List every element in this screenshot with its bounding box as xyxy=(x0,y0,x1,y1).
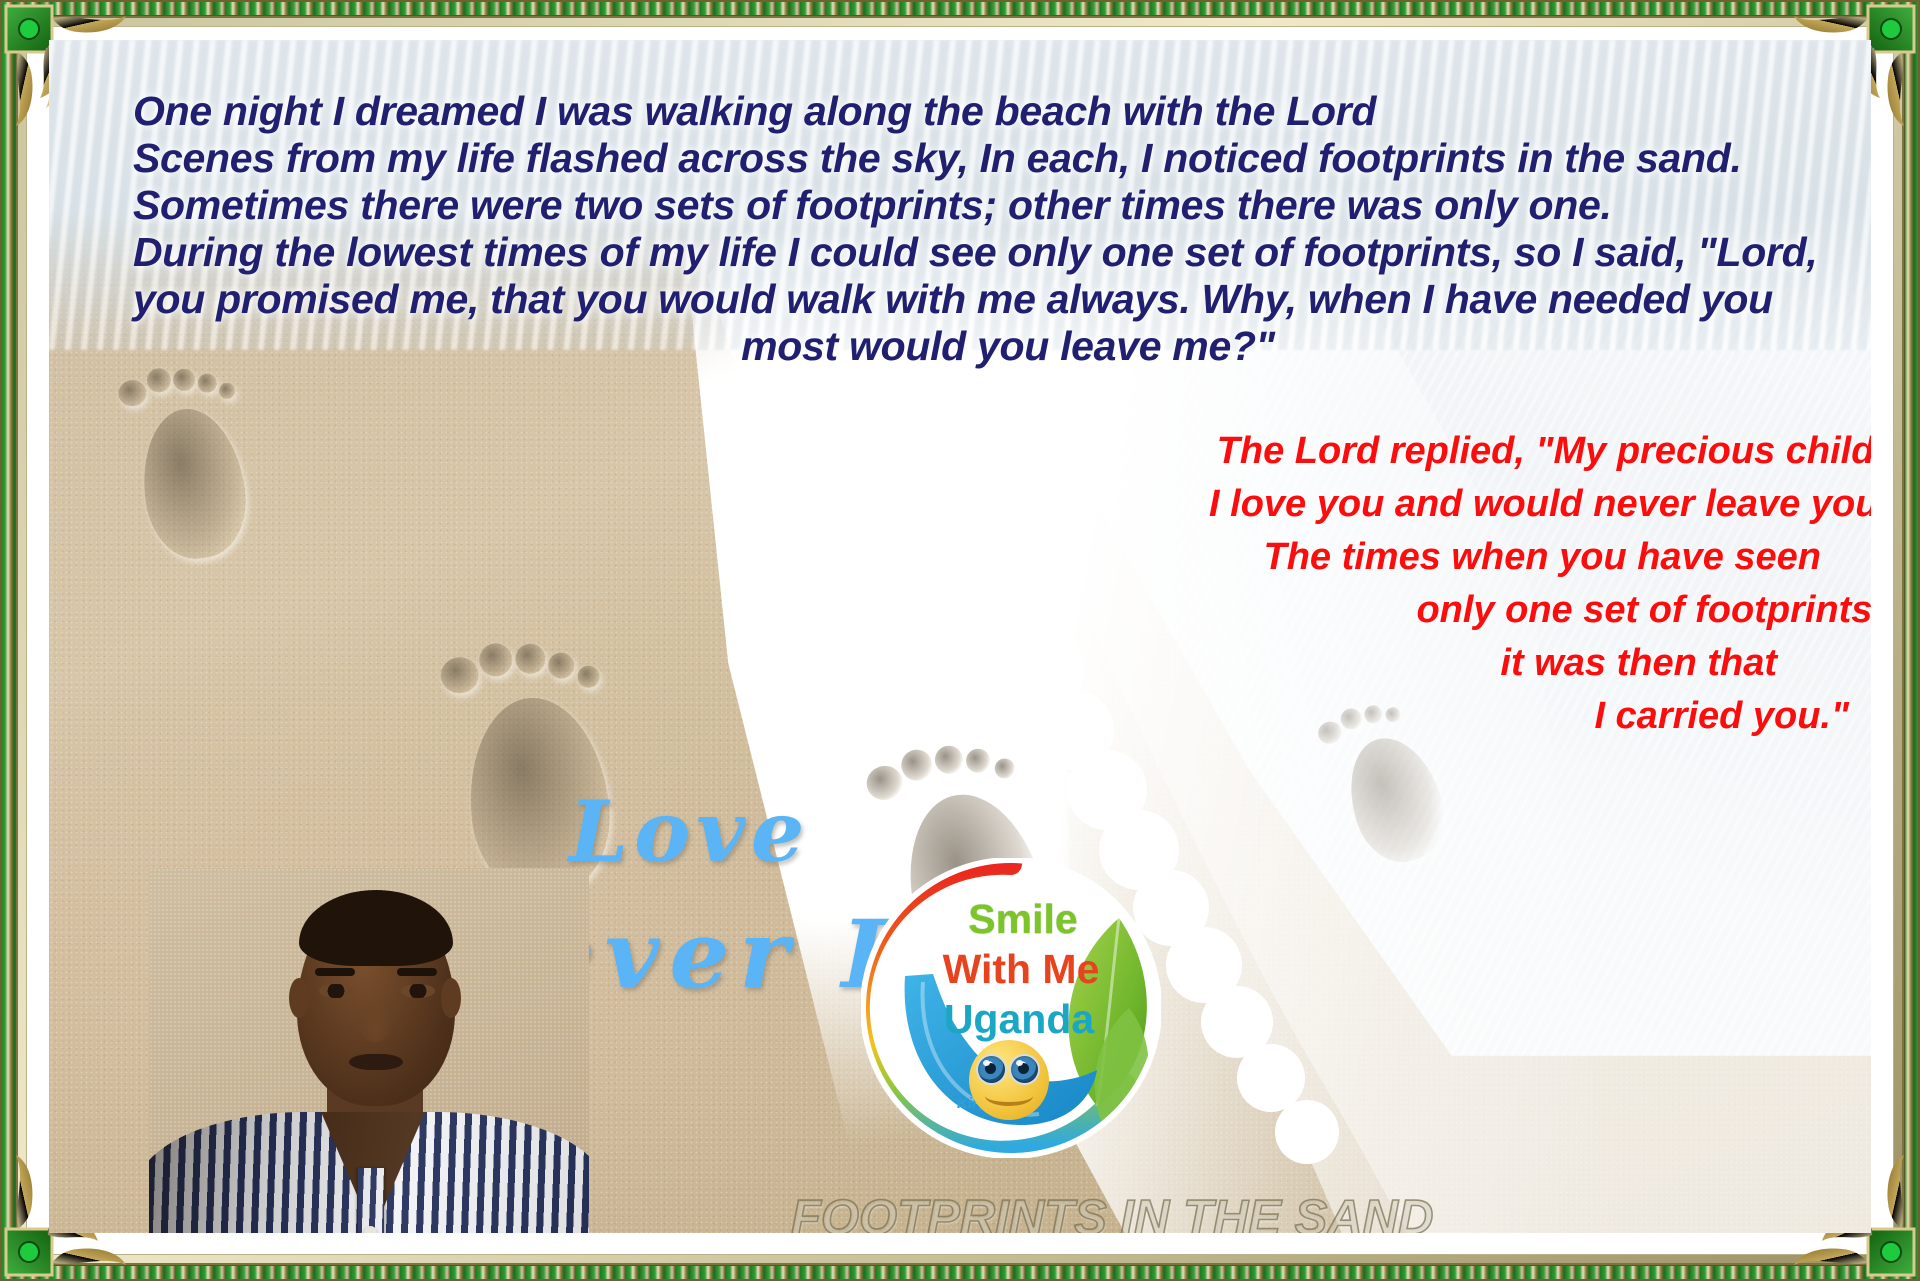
poem-blue-line: During the lowest times of my life I cou… xyxy=(133,229,1871,276)
script-text-love: Love xyxy=(569,782,810,881)
portrait-eye-left xyxy=(319,984,353,998)
smile-with-me-uganda-logo[interactable]: Smile With Me Uganda Kirya Sam xyxy=(861,858,1161,1158)
poem-blue-line: Sometimes there were two sets of footpri… xyxy=(133,182,1871,229)
portrait-photo-man xyxy=(149,868,589,1233)
poem-red-line: The times when you have seen xyxy=(829,531,1871,584)
portrait-eye-right xyxy=(401,984,435,998)
poem-red-line: I carried you." xyxy=(829,690,1871,743)
portrait-eyebrow-left xyxy=(315,968,355,976)
page-title-caption: FOOTPRINTS IN THE SAND xyxy=(791,1190,1433,1233)
poem-blue-line: you promised me, that you would walk wit… xyxy=(133,276,1871,323)
smiley-glint-left xyxy=(983,1060,990,1066)
poster-canvas: One night I dreamed I was walking along … xyxy=(0,0,1920,1281)
portrait-nose xyxy=(357,1000,393,1042)
portrait-ear-left xyxy=(289,978,309,1018)
poem-blue-line: One night I dreamed I was walking along … xyxy=(133,88,1871,135)
portrait-ear-right xyxy=(441,978,461,1018)
portrait-mouth xyxy=(349,1054,403,1070)
footprint-impression xyxy=(106,356,272,574)
poem-red-line: only one set of footprints, xyxy=(829,584,1871,637)
poem-blue-line: most would you leave me?" xyxy=(133,323,1871,370)
poem-verse-red: The Lord replied, "My precious child, I … xyxy=(829,425,1871,743)
smiley-face-icon xyxy=(969,1040,1049,1120)
poem-blue-line: Scenes from my life flashed across the s… xyxy=(133,135,1871,182)
portrait-shirt-shading xyxy=(149,1112,589,1233)
poem-red-line: I love you and would never leave you. xyxy=(829,478,1871,531)
logo-line-uganda: Uganda xyxy=(869,996,1169,1043)
poem-red-line: it was then that xyxy=(829,637,1871,690)
smiley-glint-right xyxy=(1016,1060,1023,1066)
smiley-eye-left xyxy=(978,1056,1005,1083)
logo-line-with-me: With Me xyxy=(871,946,1171,993)
smiley-mouth xyxy=(985,1086,1033,1106)
poem-verse-blue: One night I dreamed I was walking along … xyxy=(133,88,1871,370)
portrait-eyebrow-right xyxy=(397,968,437,976)
poem-red-line: The Lord replied, "My precious child, xyxy=(829,425,1871,478)
beach-photo: One night I dreamed I was walking along … xyxy=(49,40,1871,1233)
smiley-eye-right xyxy=(1011,1056,1038,1083)
logo-line-smile: Smile xyxy=(873,896,1173,943)
